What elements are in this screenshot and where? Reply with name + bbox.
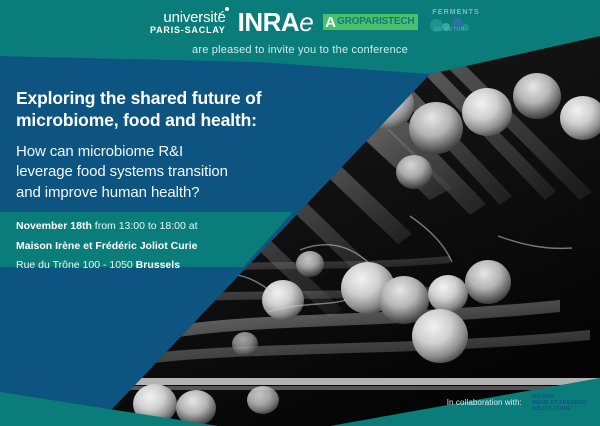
logo-dot-large-icon: [225, 7, 229, 11]
ferments-logo-text: FERMENTS: [432, 9, 479, 16]
event-address-prefix: Rue du Trône 100 - 1050: [16, 259, 136, 271]
collaboration-label: In collaboration with:: [447, 398, 522, 407]
invite-line: are pleased to invite you to the confere…: [0, 44, 600, 56]
event-venue-line: Maison Irène et Frédéric Joliot Curie: [16, 241, 276, 252]
agroparistech-logo-text: GROPARISTECH: [337, 17, 414, 27]
logo-dot-small-icon: [219, 13, 221, 15]
headline-sub: How can microbiome R&I leverage food sys…: [16, 142, 336, 204]
inrae-logo-suffix: e: [299, 7, 313, 37]
partner-logo-row: université PARIS-SACLAY INRAe A GROPARIS…: [150, 6, 510, 38]
event-address-line: Rue du Trône 100 - 1050 Brussels: [16, 260, 276, 271]
collaboration-footer: In collaboration with: MAISON IRÈNE ET F…: [447, 394, 588, 412]
headline-sub-line1: How can microbiome R&I: [16, 142, 336, 163]
event-details-block: November 18th from 13:00 to 18:00 at Mai…: [16, 221, 276, 280]
inrae-logo: INRAe: [238, 9, 314, 35]
ferments-logo-subtext: DU FUTUR: [434, 27, 464, 33]
agroparistech-logo: A GROPARISTECH: [323, 14, 418, 30]
headline-main-line1: Exploring the shared future of: [16, 88, 336, 110]
headline-main: Exploring the shared future of microbiom…: [16, 88, 336, 132]
ups-logo-line2: PARIS-SACLAY: [150, 26, 226, 35]
collab-logo-line3: JOLIOT-CURIE: [532, 406, 588, 412]
headline-sub-line2: leverage food systems transition: [16, 162, 336, 183]
headline-sub-line3: and improve human health?: [16, 183, 336, 204]
headline-block: Exploring the shared future of microbiom…: [16, 88, 336, 203]
event-venue: Maison Irène et Frédéric Joliot Curie: [16, 240, 197, 252]
event-date-bold: November 18th: [16, 220, 92, 232]
agroparistech-logo-letter: A: [325, 15, 336, 30]
ferments-du-futur-logo: FERMENTS DU FUTUR: [428, 7, 484, 37]
event-date-rest: from 13:00 to 18:00 at: [92, 220, 198, 232]
inrae-logo-text: INRA: [238, 7, 300, 37]
universite-paris-saclay-logo: université PARIS-SACLAY: [150, 10, 228, 35]
event-address-city: Brussels: [136, 259, 180, 271]
maison-joliot-curie-logo: MAISON IRÈNE ET FRÉDÉRIC JOLIOT-CURIE: [532, 394, 588, 412]
conference-poster: université PARIS-SACLAY INRAe A GROPARIS…: [0, 0, 600, 426]
headline-main-line2: microbiome, food and health:: [16, 110, 336, 132]
ups-logo-line1: université: [150, 10, 226, 25]
collab-logo-line2: IRÈNE ET FRÉDÉRIC: [532, 400, 588, 406]
event-date-line: November 18th from 13:00 to 18:00 at: [16, 221, 276, 232]
